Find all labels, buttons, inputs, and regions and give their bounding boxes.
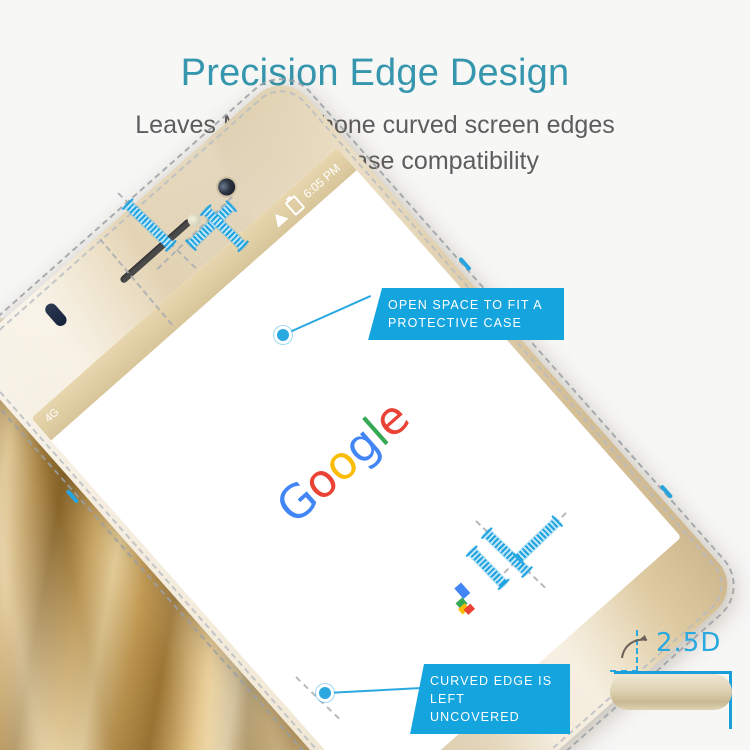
front-camera <box>215 175 239 199</box>
page-title: Precision Edge Design <box>0 52 750 95</box>
network-label: 4G <box>43 406 62 425</box>
callout-line-1: CURVED EDGE IS <box>430 672 558 690</box>
page-subtitle: Leaves Mobile Phone curved screen edges … <box>0 108 750 179</box>
battery-icon <box>284 194 305 215</box>
leader-dot-icon <box>316 684 334 702</box>
callout-line-1: OPEN SPACE TO FIT A <box>388 296 552 314</box>
glass-cross-section <box>610 674 732 710</box>
subtitle-line-1: Leaves Mobile Phone curved screen edges <box>0 108 750 144</box>
callout-curved-edge: CURVED EDGE IS LEFT UNCOVERED <box>410 664 570 734</box>
edge-thickness-label: 2.5D <box>656 628 721 658</box>
leader-dot-icon <box>274 326 292 344</box>
callout-line-2: LEFT UNCOVERED <box>430 690 558 726</box>
callout-open-space: OPEN SPACE TO FIT A PROTECTIVE CASE <box>368 288 564 340</box>
product-feature-image: Precision Edge Design Leaves Mobile Phon… <box>0 0 750 750</box>
callout-line-2: PROTECTIVE CASE <box>388 314 552 332</box>
edge-thickness-diagram: 2.5D <box>610 618 750 738</box>
google-logo: Google <box>266 390 419 534</box>
phone-top-slot <box>43 301 69 328</box>
curved-edge-arc-icon <box>618 630 652 664</box>
signal-triangle-icon <box>270 209 288 227</box>
